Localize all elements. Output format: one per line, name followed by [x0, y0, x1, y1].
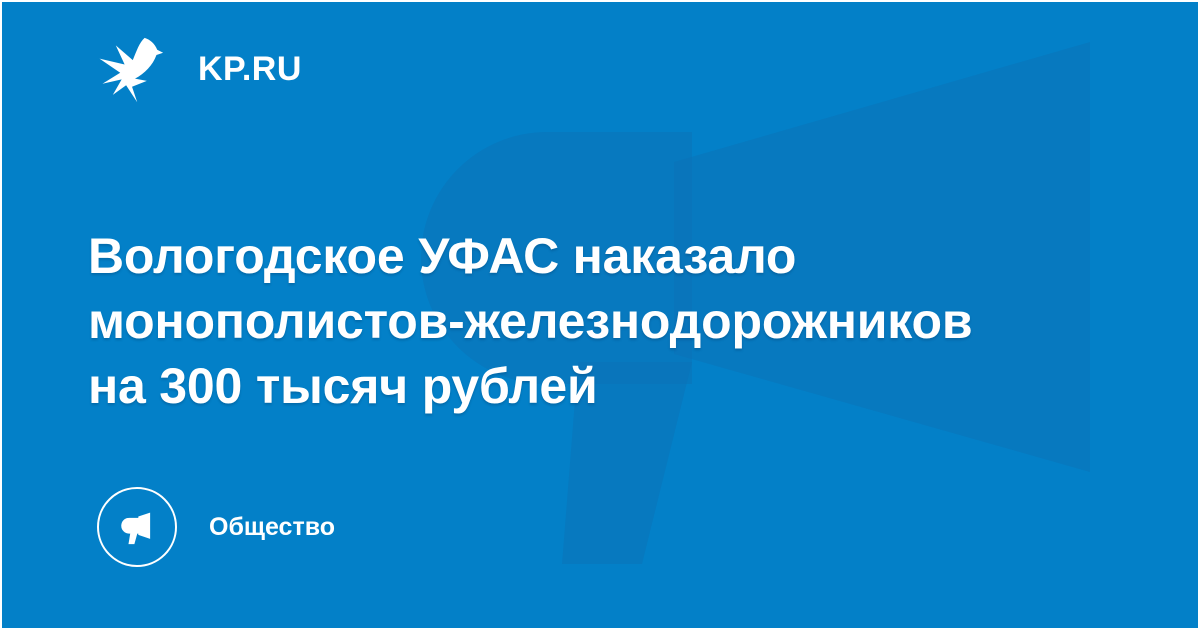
headline-line-2: монополистов-железнодорожников [88, 289, 1148, 354]
headline: Вологодское УФАС наказало монополистов-ж… [88, 224, 1148, 419]
brand-wordmark: KP.RU [198, 52, 302, 86]
headline-line-1: Вологодское УФАС наказало [88, 224, 1148, 289]
swallow-bird-icon [96, 32, 174, 106]
brand-header[interactable]: KP.RU [88, 32, 302, 106]
news-share-card: KP.RU Вологодское УФАС наказало монополи… [0, 0, 1200, 630]
category-badge[interactable]: Общество [97, 487, 335, 567]
headline-line-3: на 300 тысяч рублей [88, 354, 1148, 419]
card-blue-background: KP.RU Вологодское УФАС наказало монополи… [2, 2, 1198, 628]
category-label: Общество [209, 515, 335, 540]
megaphone-icon [97, 487, 177, 567]
